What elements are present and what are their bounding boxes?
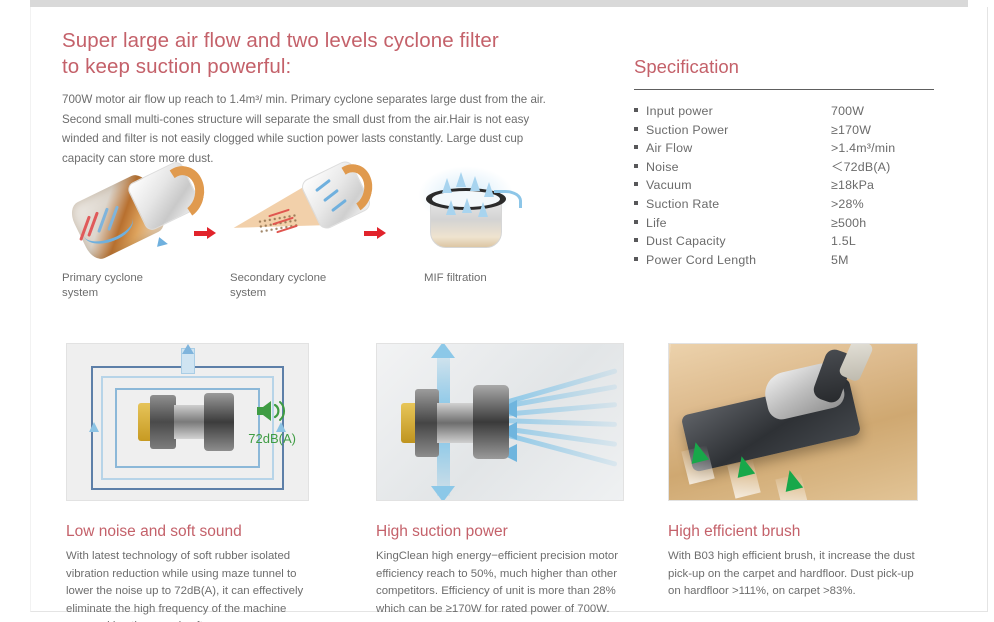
specification-divider [634,89,934,90]
feature-card-title: High suction power [376,523,624,541]
spec-row: Suction Rate >28% [634,195,946,214]
bullet-square-icon [634,182,638,186]
specification-list: Input power 700W Suction Power ≥170W Air… [634,102,946,269]
flow-stage-primary-cyclone: Primary cyclone system [62,160,212,301]
spec-row: Vacuum ≥18kPa [634,176,946,195]
feature-card-low-noise: 72dB(A) Low noise and soft sound With la… [66,343,309,622]
bullet-square-icon [634,145,638,149]
bullet-square-icon [634,108,638,112]
specification-title: Specification [634,56,946,78]
spec-value: 1.5L [831,232,856,251]
spec-row: Air Flow >1.4m³/min [634,139,946,158]
primary-cyclone-illustration [62,160,212,265]
motor-illustration [138,391,238,453]
flow-stage-caption: MIF filtration [424,271,544,286]
spec-row: Life ≥500h [634,214,946,233]
motor-illustration [401,383,521,461]
flow-stage-caption: Primary cyclone system [62,271,182,301]
hero-body-text: 700W motor air flow up reach to 1.4m³/ m… [62,90,567,168]
efficient-brush-illustration [668,343,918,501]
spec-label: Life [646,214,831,233]
spec-value: >1.4m³/min [831,139,895,158]
feature-card-body: With B03 high efficient brush, it increa… [668,548,918,601]
spec-label: Vacuum [646,176,831,195]
spec-label: Air Flow [646,139,831,158]
feature-card-body: KingClean high energy−efficient precisio… [376,548,624,618]
spec-value: ≥18kPa [831,176,874,195]
spec-label: Input power [646,102,831,121]
feature-card-body: With latest technology of soft rubber is… [66,548,309,622]
noise-badge-label: 72dB(A) [248,431,296,446]
hero-title-line-1: Super large air flow and two levels cycl… [62,29,499,52]
flow-stage-caption: Secondary cyclone system [230,271,350,301]
spec-value: ≥500h [831,214,866,233]
spec-label: Dust Capacity [646,232,831,251]
speaker-icon [255,398,289,424]
feature-card-title: Low noise and soft sound [66,523,309,541]
secondary-cyclone-illustration [230,160,380,265]
bullet-square-icon [634,164,638,168]
spec-row: Input power 700W [634,102,946,121]
spec-label: Suction Power [646,121,831,140]
feature-card-efficient-brush: High efficient brush With B03 high effic… [668,343,918,601]
spec-value: ≥170W [831,121,871,140]
spec-row: Suction Power ≥170W [634,121,946,140]
high-suction-illustration [376,343,624,501]
bullet-square-icon [634,238,638,242]
feature-card-high-suction: High suction power KingClean high energy… [376,343,624,618]
spec-value: 5M [831,251,849,270]
spec-row: Noise ＜72dB(A) [634,158,946,177]
mif-filtration-illustration [402,160,532,265]
spec-row: Dust Capacity 1.5L [634,232,946,251]
hero-title-line-2: to keep suction powerful: [62,54,567,80]
spec-value: 700W [831,102,864,121]
noise-badge: 72dB(A) [248,398,296,446]
spec-label: Power Cord Length [646,251,831,270]
flow-stage-mif-filtration: MIF filtration [402,160,544,286]
specification-panel: Specification Input power 700W Suction P… [634,56,946,269]
spec-value: >28% [831,195,864,214]
spec-label: Noise [646,158,831,177]
feature-card-title: High efficient brush [668,523,918,541]
spec-label: Suction Rate [646,195,831,214]
flow-stage-secondary-cyclone: Secondary cyclone system [230,160,380,301]
product-feature-page: Super large air flow and two levels cycl… [0,0,994,622]
hero-title: Super large air flow and two levels cycl… [62,28,567,80]
top-gray-strip [30,0,968,7]
bullet-square-icon [634,127,638,131]
spec-value: ＜72dB(A) [831,158,890,177]
bullet-square-icon [634,257,638,261]
cyclone-flow-diagram: Primary cyclone system Secondary cyclone… [62,160,582,295]
bullet-square-icon [634,220,638,224]
bullet-square-icon [634,201,638,205]
hero-section: Super large air flow and two levels cycl… [62,28,567,168]
spec-row: Power Cord Length 5M [634,251,946,270]
low-noise-illustration: 72dB(A) [66,343,309,501]
